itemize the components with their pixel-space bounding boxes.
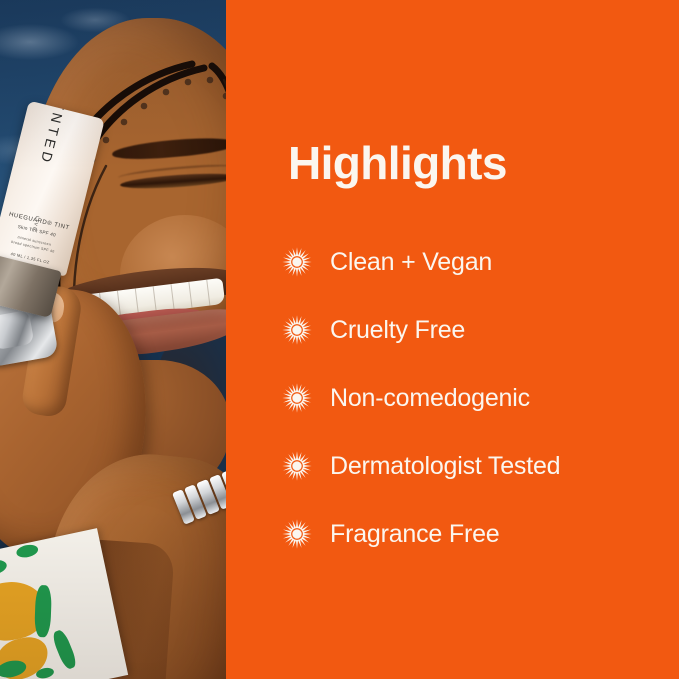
product-highlights-graphic: TNTED LIVE HUEGUARD® TINT Skin Tint SPF … bbox=[0, 0, 679, 679]
list-item: Non-comedogenic bbox=[282, 364, 662, 432]
list-item: Fragrance Free bbox=[282, 500, 662, 568]
sunburst-icon bbox=[282, 247, 312, 277]
list-item: Cruelty Free bbox=[282, 296, 662, 364]
list-item: Clean + Vegan bbox=[282, 228, 662, 296]
list-item-label: Cruelty Free bbox=[330, 318, 465, 343]
list-item-label: Dermatologist Tested bbox=[330, 454, 560, 479]
sunburst-icon bbox=[282, 451, 312, 481]
list-item-label: Clean + Vegan bbox=[330, 250, 492, 275]
product-brand-name: TNTED bbox=[37, 101, 69, 168]
highlights-panel: Highlights bbox=[226, 0, 679, 679]
sunburst-icon bbox=[282, 383, 312, 413]
page-title: Highlights bbox=[288, 140, 507, 186]
highlights-list: Clean + Vegan bbox=[282, 228, 662, 568]
list-item-label: Non-comedogenic bbox=[330, 386, 530, 411]
sunburst-icon bbox=[282, 315, 312, 345]
list-item: Dermatologist Tested bbox=[282, 432, 662, 500]
list-item-label: Fragrance Free bbox=[330, 522, 500, 547]
sunburst-icon bbox=[282, 519, 312, 549]
product-lifestyle-photo: TNTED LIVE HUEGUARD® TINT Skin Tint SPF … bbox=[0, 0, 226, 679]
